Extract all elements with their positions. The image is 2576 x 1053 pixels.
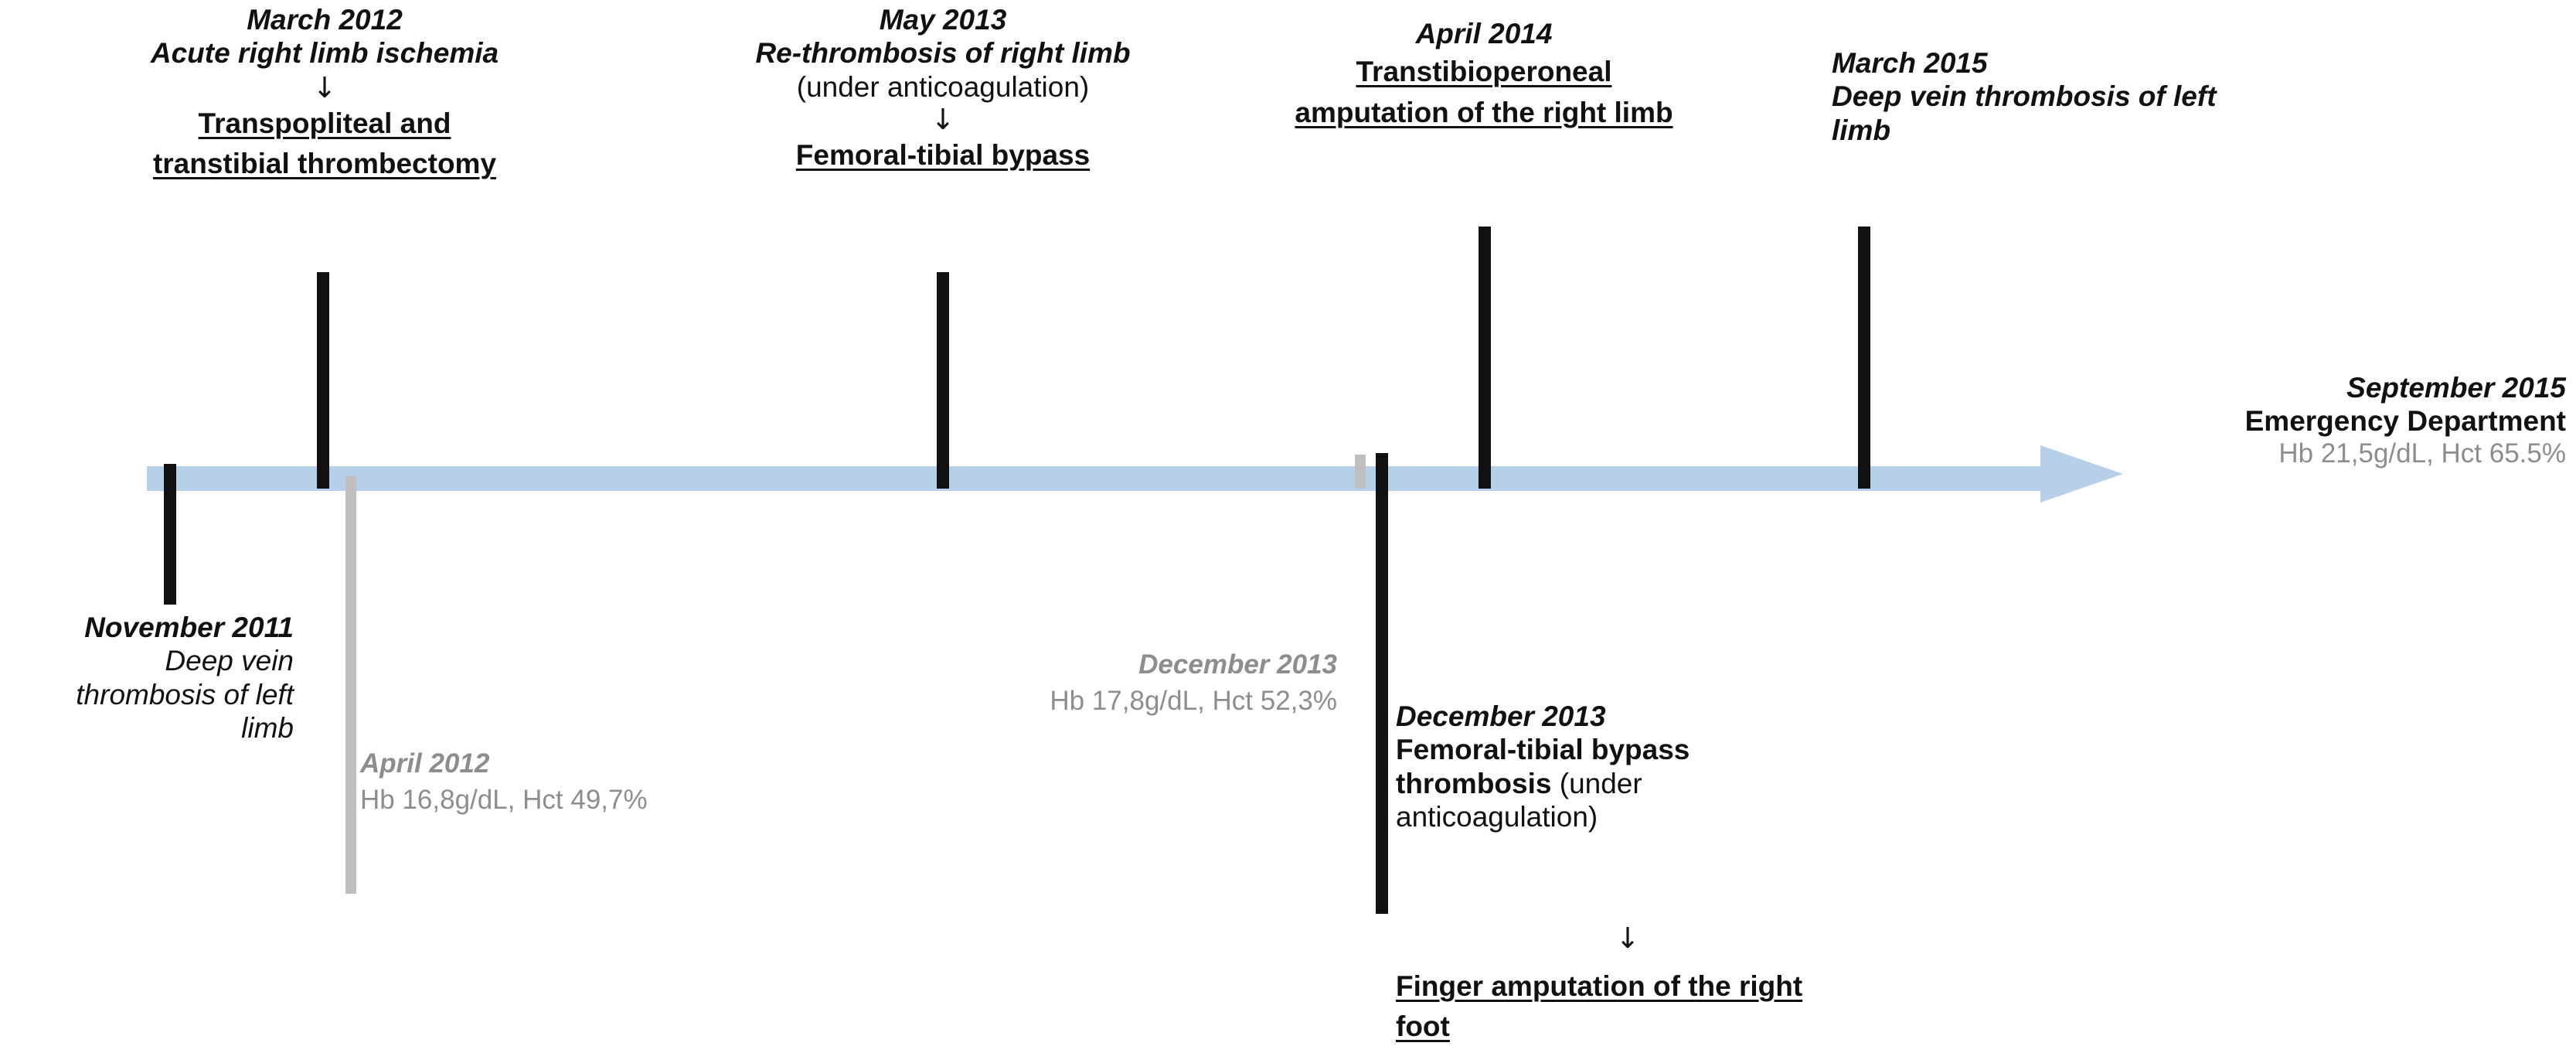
label-april-2014: April 2014 Transtibioperoneal amputation… [1283,17,1685,129]
label-november-2011-event-line2: thrombosis of left [0,678,294,711]
timeline-axis-shaft [147,466,2052,491]
down-arrow-icon: ↓ [108,73,541,102]
label-may-2013-event: Re-thrombosis of right limb [711,36,1175,70]
label-march-2012-procedure-line2: transtibial thrombectomy [108,147,541,180]
tick-march-2015 [1858,227,1870,489]
tick-april-2012 [345,476,356,894]
tick-march-2012 [317,272,329,489]
tick-november-2011 [164,464,176,605]
tick-december-2013-labs [1355,455,1366,489]
label-march-2015-event-line1: Deep vein thrombosis of left [1832,80,2311,113]
down-arrow-icon: ↓ [711,105,1175,134]
label-september-2015-labs: Hb 21,5g/dL, Hct 65.5% [2040,438,2566,470]
label-april-2014-date: April 2014 [1283,17,1685,50]
label-september-2015: September 2015 Emergency Department Hb 2… [2040,371,2566,470]
label-march-2015-date: March 2015 [1832,46,2311,80]
label-may-2013-event-note: (under anticoagulation) [711,70,1175,104]
label-november-2011-event-line3: limb [0,711,294,745]
down-arrow-icon: ↓ [1396,924,1860,952]
label-december-2013-event-bold-line2-wrap: thrombosis (under [1396,767,1860,800]
timeline-figure: March 2012 Acute right limb ischemia ↓ T… [0,0,2576,1053]
label-december-2013-labs: December 2013 Hb 17,8g/dL, Hct 52,3% [796,649,1337,717]
label-may-2013-procedure: Femoral-tibial bypass [711,138,1175,172]
label-november-2011-event-line1: Deep vein [0,644,294,677]
label-march-2015: March 2015 Deep vein thrombosis of left … [1832,46,2311,147]
label-december-2013-procedure-line1: Finger amputation of the right [1396,970,1983,1003]
label-april-2012: April 2012 Hb 16,8g/dL, Hct 49,7% [360,748,901,816]
label-april-2012-date: April 2012 [360,748,901,780]
tick-december-2013-event [1376,453,1388,914]
label-september-2015-date: September 2015 [2040,371,2566,404]
label-march-2012-date: March 2012 [108,3,541,36]
label-december-2013-event: December 2013 Femoral-tibial bypass thro… [1396,700,1860,833]
label-may-2013-date: May 2013 [711,3,1175,36]
label-december-2013-event-bold-line1: Femoral-tibial bypass [1396,733,1860,766]
label-december-2013-event-note-inline: (under [1551,768,1642,799]
label-march-2012-procedure-line1: Transpopliteal and [108,107,541,140]
label-april-2014-procedure-line1: Transtibioperoneal [1283,55,1685,88]
label-november-2011: November 2011 Deep vein thrombosis of le… [0,611,294,745]
label-march-2015-event-line2: limb [1832,114,2311,147]
tick-may-2013 [937,272,949,489]
label-december-2013-procedure-line2: foot [1396,1010,1983,1043]
label-december-2013-event-note-line2: anticoagulation) [1396,800,1860,833]
label-may-2013: May 2013 Re-thrombosis of right limb (un… [711,3,1175,172]
label-december-2013-labs-values: Hb 17,8g/dL, Hct 52,3% [796,686,1337,717]
label-december-2013-event-bold-line2: thrombosis [1396,768,1551,799]
label-december-2013-procedure-lines: Finger amputation of the right foot [1396,970,1983,1044]
label-april-2014-procedure-line2: amputation of the right limb [1283,96,1685,129]
label-december-2013-procedure: ↓ [1396,924,1860,952]
label-november-2011-date: November 2011 [0,611,294,644]
tick-april-2014 [1479,227,1491,489]
label-march-2012: March 2012 Acute right limb ischemia ↓ T… [108,3,541,180]
label-december-2013-event-date: December 2013 [1396,700,1860,733]
label-april-2012-labs: Hb 16,8g/dL, Hct 49,7% [360,785,901,816]
label-december-2013-labs-date: December 2013 [796,649,1337,681]
label-september-2015-event: Emergency Department [2040,404,2566,438]
label-march-2012-event: Acute right limb ischemia [108,36,541,70]
